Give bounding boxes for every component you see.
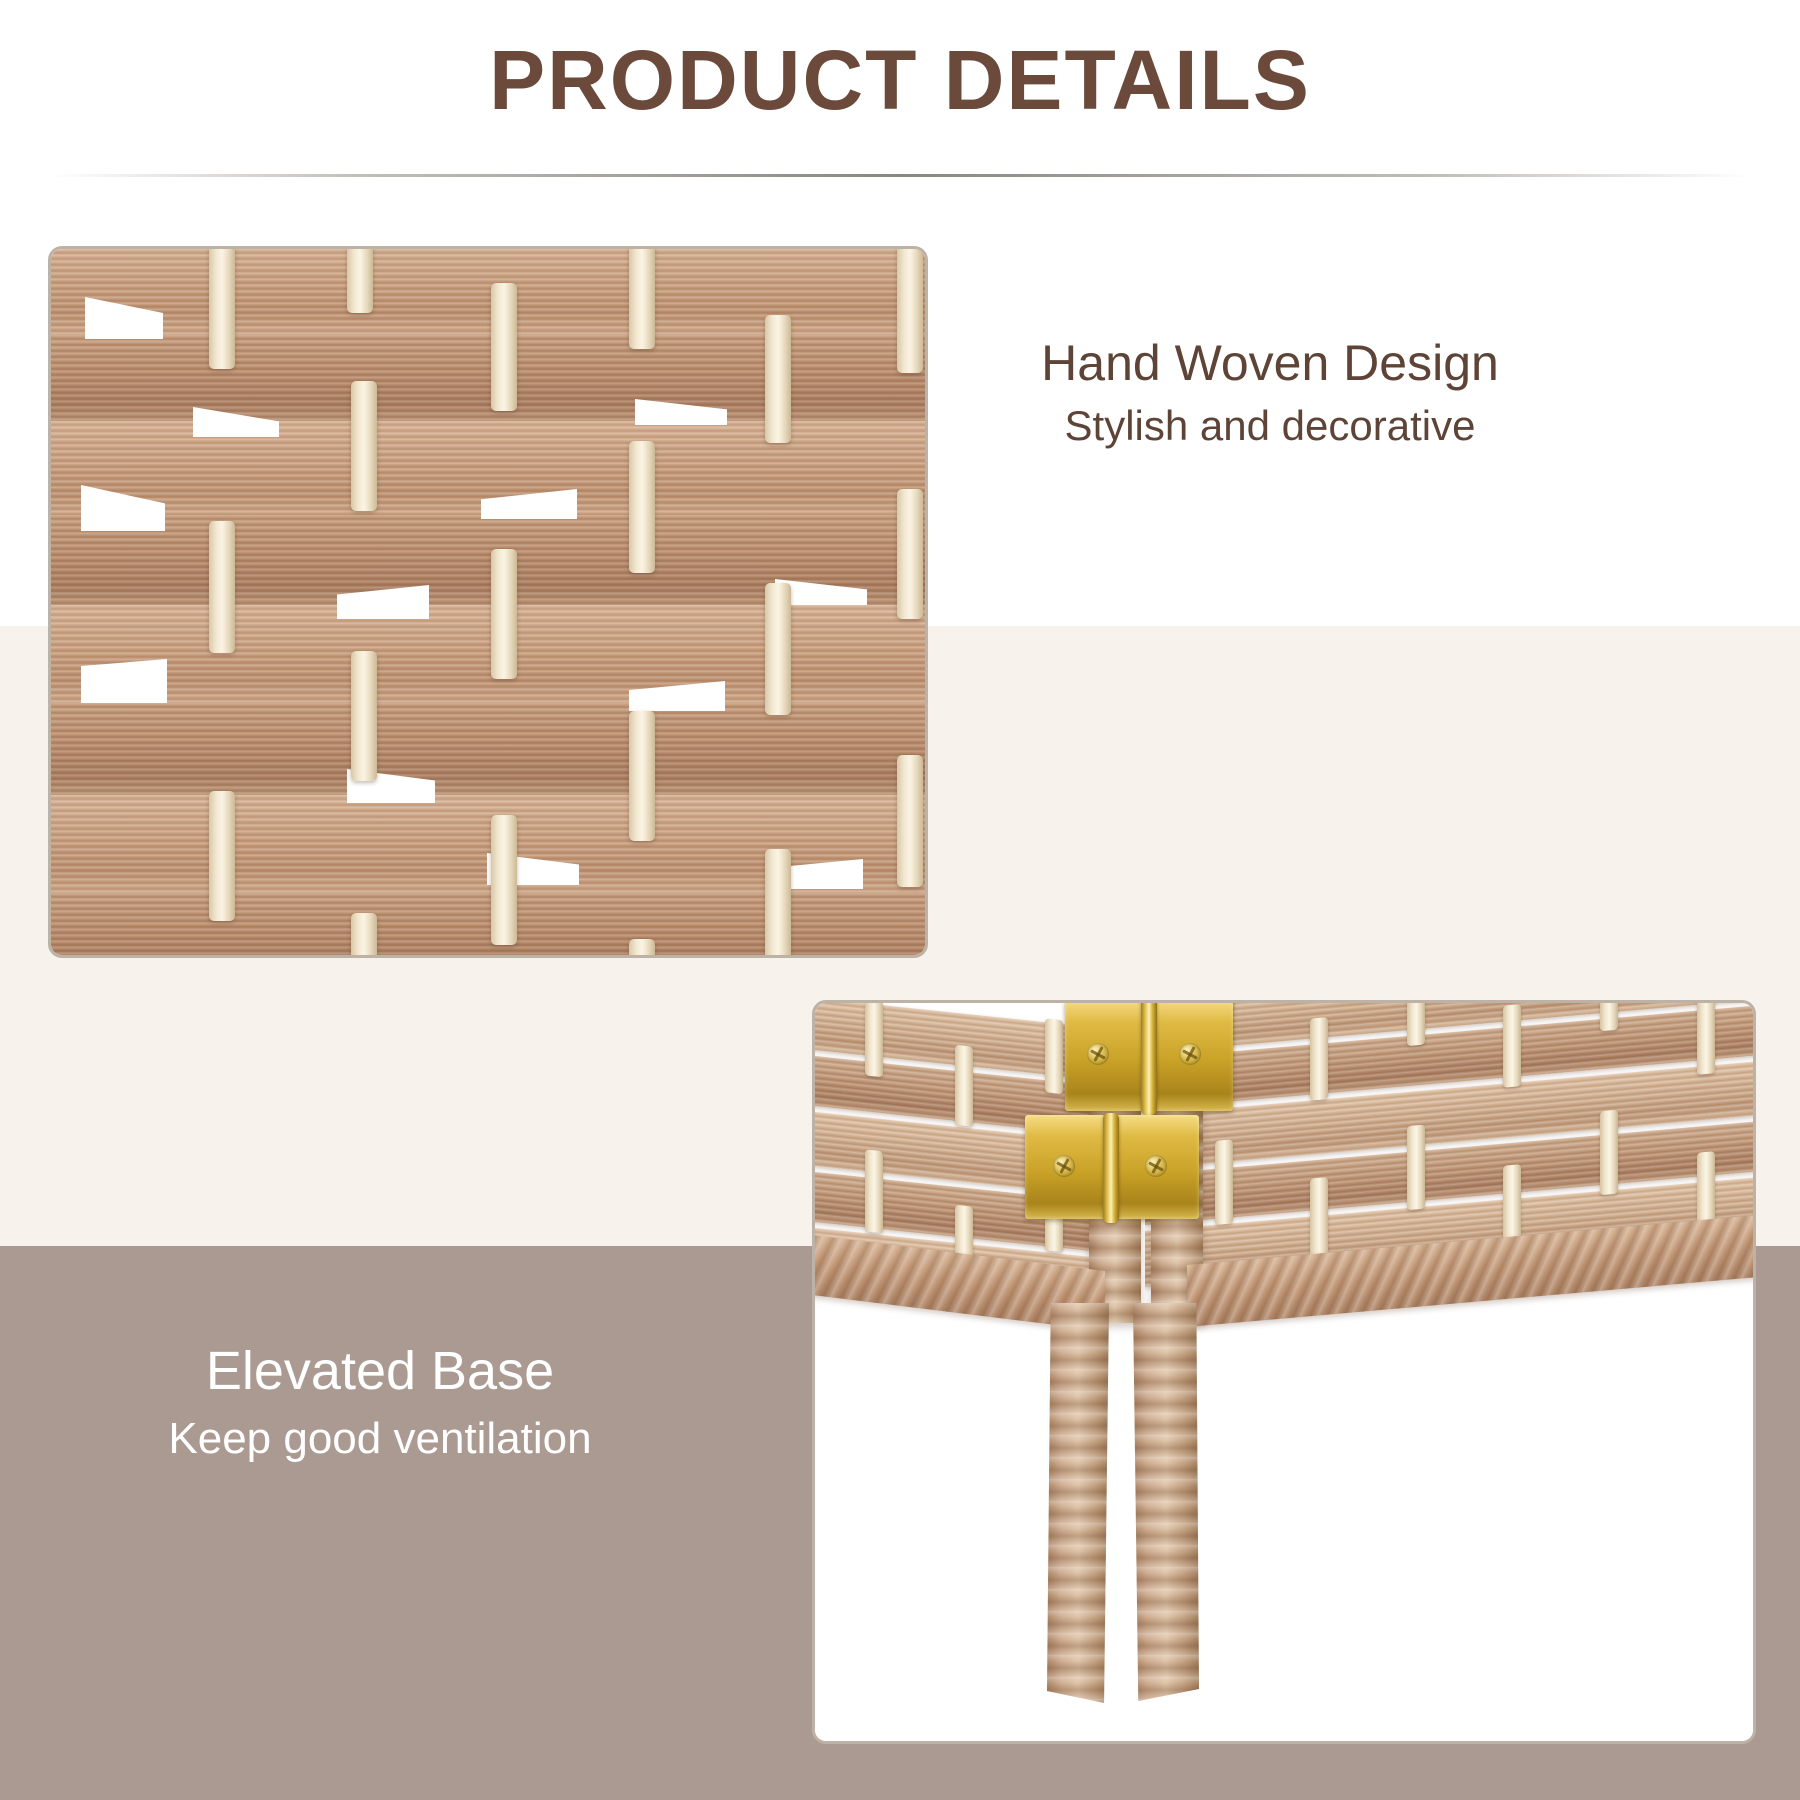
feature-title: Elevated Base [60,1338,700,1406]
weave-dowel [629,939,655,955]
leg-left [1047,1303,1109,1703]
weave-dowel [1045,1018,1063,1094]
woven-panel-image [51,249,925,955]
weave-band [51,893,925,955]
weave-dowel [209,249,235,369]
leg-right [1133,1303,1199,1701]
weave-band [51,249,925,339]
weave-gap [81,659,167,703]
weave-band [51,335,925,427]
feature-subtitle: Keep good ventilation [60,1410,700,1467]
weave-dowel [1697,1003,1715,1075]
weave-dowel [629,441,655,573]
hinge-screw [1145,1155,1167,1177]
photo-hinge-and-legs-closeup [812,1000,1756,1744]
product-details-infographic: PRODUCT DETAILS [0,0,1800,1800]
weave-dowel [897,755,923,887]
header-divider [50,174,1750,177]
weave-dowel [1310,1017,1328,1101]
feature-title: Hand Woven Design [960,332,1580,395]
weave-dowel [897,249,923,373]
weave-dowel [765,583,791,715]
weave-dowel [865,1149,883,1233]
weave-dowel [1600,1110,1618,1196]
weave-dowel [347,249,373,313]
weave-dowel [1407,1003,1425,1046]
weave-dowel [209,791,235,921]
weave-dowel [491,549,517,679]
hinge-knuckle-lower [1103,1113,1119,1223]
hinge-screw [1179,1043,1201,1065]
weave-dowel [1600,1003,1618,1031]
weave-dowel [629,249,655,349]
weave-dowel [1407,1125,1425,1211]
weave-dowel [865,1003,883,1077]
weave-dowel [1215,1139,1233,1225]
weave-dowel [351,651,377,781]
weave-dowel [1503,1004,1521,1088]
weave-dowel [955,1045,973,1127]
weave-band [51,605,925,709]
weave-dowel [765,849,791,955]
photo-woven-panel-closeup [48,246,928,958]
weave-dowel [209,521,235,653]
weave-dowel [351,381,377,511]
weave-dowel [1310,1177,1328,1261]
hinge-screw [1087,1043,1109,1065]
hinge-knuckle-upper [1141,1003,1157,1115]
weave-band [51,703,925,801]
feature-elevated-base: Elevated Base Keep good ventilation [60,1338,700,1467]
weave-dowel [765,315,791,443]
hinge-screw [1053,1155,1075,1177]
weave-dowel [491,815,517,945]
weave-dowel [897,489,923,619]
weave-dowel [351,913,377,955]
page-title: PRODUCT DETAILS [0,36,1800,124]
hinge-legs-image [815,1003,1753,1741]
feature-hand-woven-design: Hand Woven Design Stylish and decorative [960,332,1580,453]
weave-dowel [629,711,655,841]
feature-subtitle: Stylish and decorative [960,399,1580,454]
weave-dowel [491,283,517,411]
